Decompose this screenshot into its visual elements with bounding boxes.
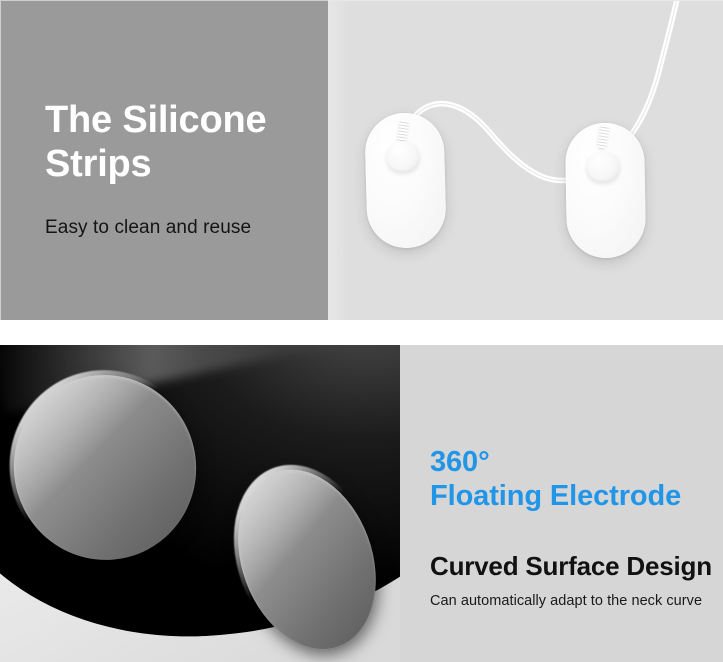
silicone-subheading: Easy to clean and reuse (45, 217, 251, 239)
pad-snap-connector-icon (586, 151, 620, 183)
pad-snap-connector-icon (386, 141, 420, 173)
silicone-strips-section: The Silicone Strips Easy to clean and re… (0, 0, 723, 320)
section-divider (0, 320, 723, 345)
floating-electrode-section: 360° Floating Electrode Curved Surface D… (0, 345, 723, 662)
floating-electrode-heading: 360° Floating Electrode (430, 445, 681, 513)
cable-strain-relief-icon (596, 124, 610, 149)
curved-surface-description: Can automatically adapt to the neck curv… (430, 593, 702, 609)
floating-electrode-copy-panel: 360° Floating Electrode Curved Surface D… (400, 345, 723, 662)
silicone-heading: The Silicone Strips (45, 98, 266, 187)
product-feature-page: The Silicone Strips Easy to clean and re… (0, 0, 723, 662)
electrode-closeup-photo (0, 345, 400, 662)
silicone-copy-panel: The Silicone Strips Easy to clean and re… (0, 0, 328, 320)
silicone-pad-left (364, 112, 447, 249)
silicone-pad-right (565, 122, 646, 258)
silicone-pads-photo (328, 0, 723, 320)
curved-surface-subheading: Curved Surface Design (430, 551, 712, 582)
